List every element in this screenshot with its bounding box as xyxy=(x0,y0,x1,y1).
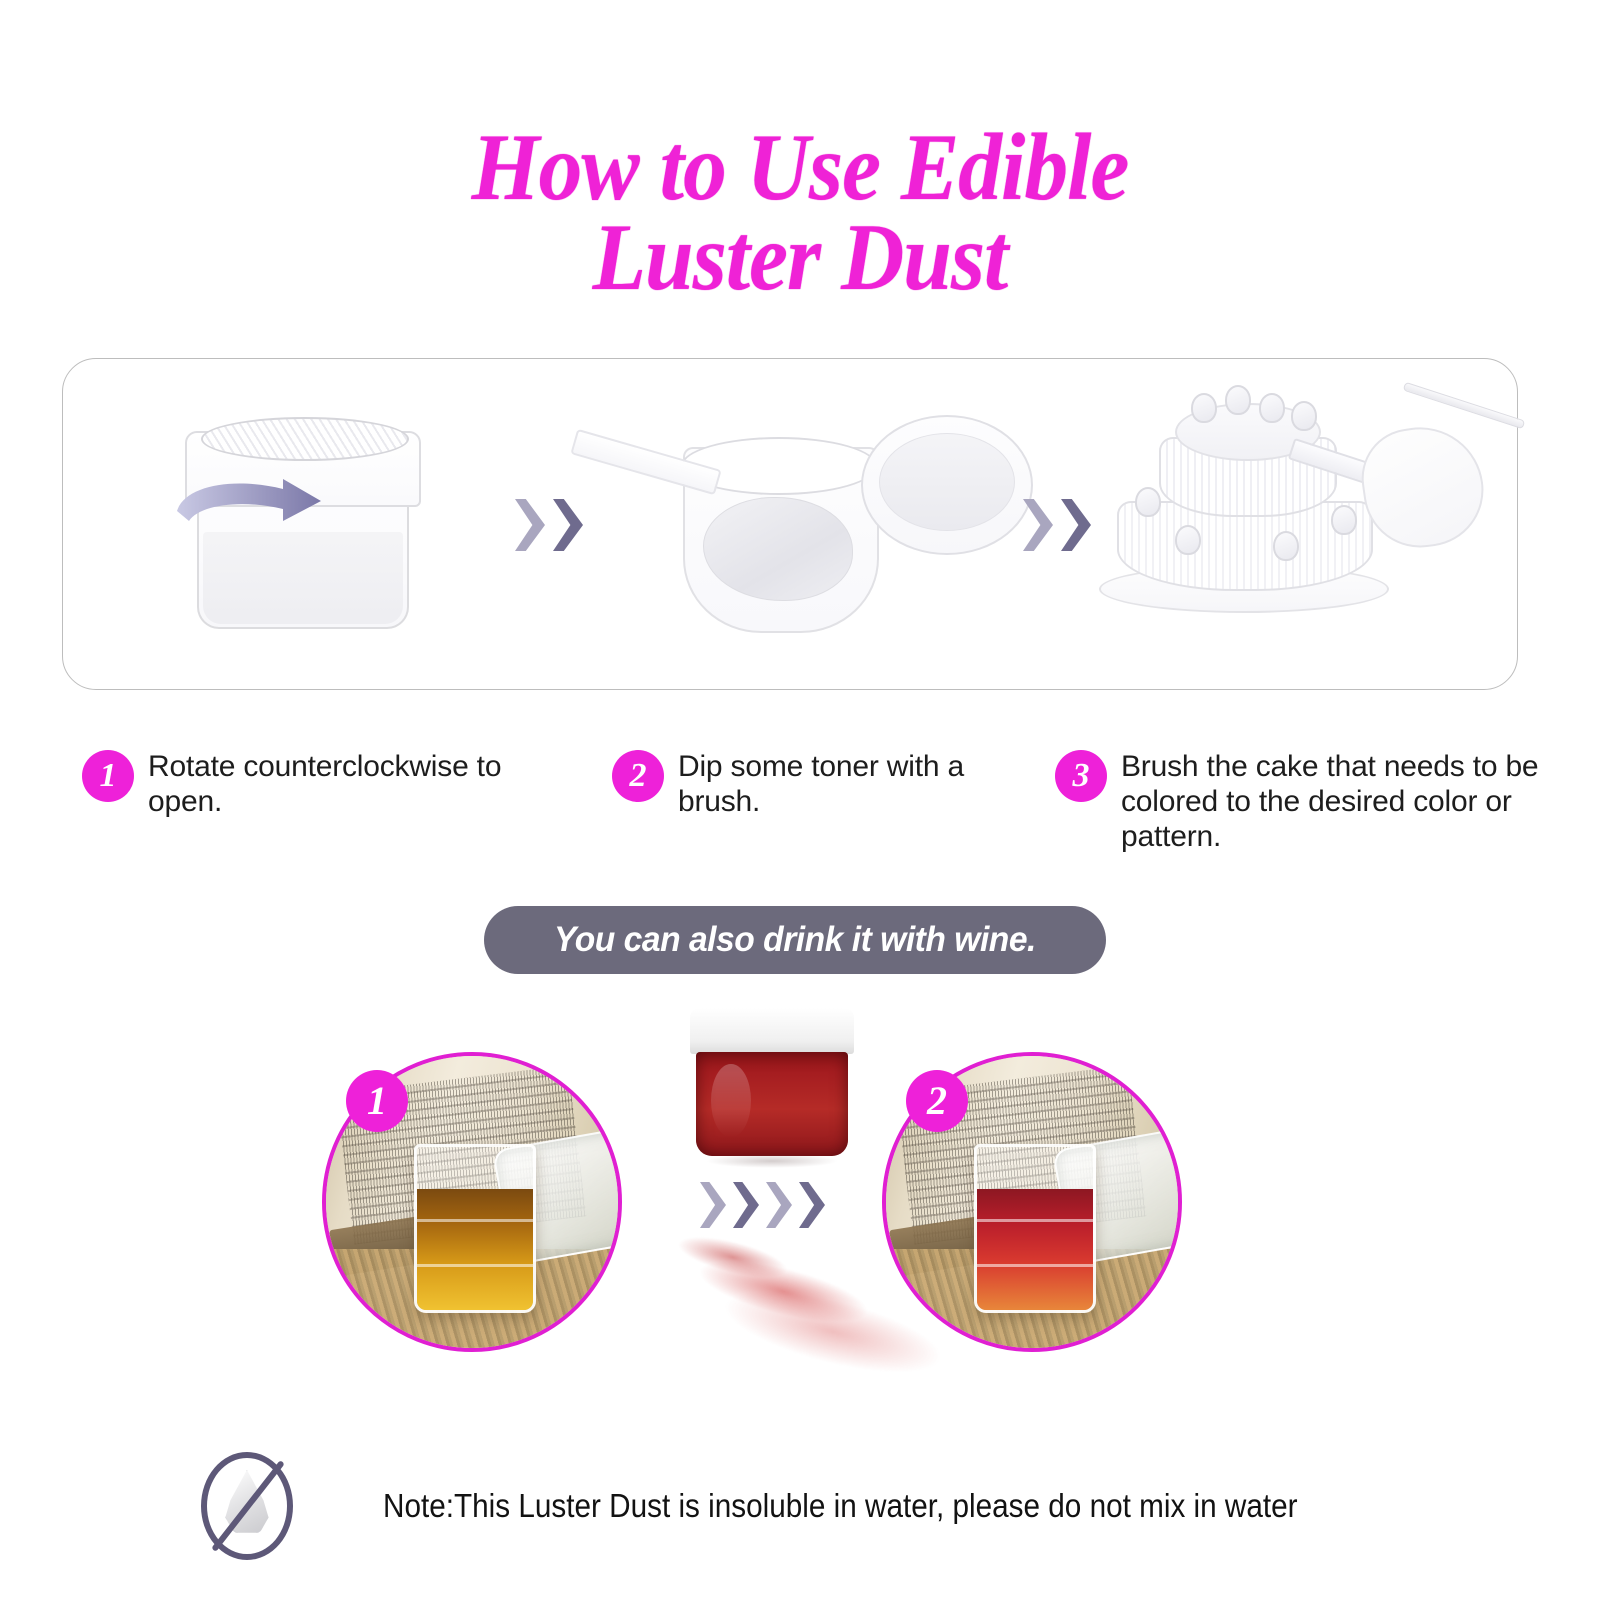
transition-arrow-group xyxy=(700,1182,825,1228)
cake-berry xyxy=(1273,531,1299,561)
liquid-red xyxy=(977,1189,1094,1310)
hand-icon xyxy=(1355,419,1491,555)
paint-brush-handle-icon xyxy=(1403,382,1526,429)
chevron-right-icon xyxy=(553,499,583,551)
wine-photo-badge-1: 1 xyxy=(346,1070,408,1132)
glass-ridge xyxy=(417,1264,534,1267)
step-number-badge: 3 xyxy=(1055,750,1107,802)
chevron-right-icon xyxy=(1023,499,1053,551)
glass-ridge xyxy=(977,1219,1094,1222)
jar-red-powder xyxy=(696,1052,848,1156)
cake-berry xyxy=(1291,401,1317,431)
chevron-right-icon xyxy=(799,1182,825,1228)
powder-clump xyxy=(703,497,853,601)
no-water-icon xyxy=(201,1452,293,1560)
chevron-right-icon xyxy=(766,1182,792,1228)
drinking-glass xyxy=(414,1144,537,1313)
infographic-page: How to Use Edible Luster Dust xyxy=(0,0,1600,1600)
red-luster-dust-jar-icon xyxy=(690,1008,854,1158)
cake-berry xyxy=(1191,393,1217,423)
cake-berry xyxy=(1135,487,1161,517)
panel-arrow-group-1 xyxy=(515,499,583,551)
step-item-2: 2 Dip some toner with a brush. xyxy=(612,748,1042,820)
jar-shadow xyxy=(706,1154,838,1168)
jar-lid-filled xyxy=(861,415,1033,555)
note-row: Note:This Luster Dust is insoluble in wa… xyxy=(0,1452,1600,1560)
wine-banner-text: You can also drink it with wine. xyxy=(554,920,1036,960)
note-text: Note:This Luster Dust is insoluble in wa… xyxy=(383,1487,1298,1525)
cake-berry xyxy=(1175,525,1201,555)
open-jar-with-brush-icon xyxy=(623,391,1043,651)
lid-powder xyxy=(879,433,1015,531)
drinking-glass xyxy=(974,1144,1097,1313)
wine-photo-badge-2: 2 xyxy=(906,1070,968,1132)
page-title-line-2: Luster Dust xyxy=(64,212,1536,302)
glass-ridge xyxy=(977,1264,1094,1267)
step-item-3: 3 Brush the cake that needs to be colore… xyxy=(1055,748,1555,854)
cake-berry xyxy=(1225,385,1251,415)
page-title: How to Use Edible Luster Dust xyxy=(0,122,1600,303)
glass-ridge xyxy=(417,1219,534,1222)
chevron-right-icon xyxy=(733,1182,759,1228)
page-title-line-1: How to Use Edible xyxy=(64,122,1536,212)
jar-lid-white xyxy=(690,1008,854,1054)
rotate-arrow-icon xyxy=(171,475,351,545)
wine-banner: You can also drink it with wine. xyxy=(484,906,1106,974)
liquid-amber xyxy=(417,1189,534,1310)
cake-berry xyxy=(1259,393,1285,423)
step-number-badge: 1 xyxy=(82,750,134,802)
closed-jar-with-rotate-arrow-icon xyxy=(163,397,443,647)
step-text: Rotate counterclockwise to open. xyxy=(148,748,562,820)
jar-lid-knurled-top xyxy=(201,417,409,461)
step-number-badge: 2 xyxy=(612,750,664,802)
step-text: Brush the cake that needs to be colored … xyxy=(1121,748,1555,854)
step-text: Dip some toner with a brush. xyxy=(678,748,1042,820)
chevron-right-icon xyxy=(515,499,545,551)
cake-brushing-icon xyxy=(1083,375,1503,665)
jar-powder xyxy=(203,532,403,624)
steps-list: 1 Rotate counterclockwise to open. 2 Dip… xyxy=(0,748,1600,868)
chevron-right-icon xyxy=(700,1182,726,1228)
illustration-panel xyxy=(62,358,1518,690)
panel-arrow-group-2 xyxy=(1023,499,1091,551)
wine-comparison-section: 1 2 xyxy=(0,1000,1600,1400)
step-item-1: 1 Rotate counterclockwise to open. xyxy=(82,748,562,820)
cake-berry xyxy=(1331,505,1357,535)
